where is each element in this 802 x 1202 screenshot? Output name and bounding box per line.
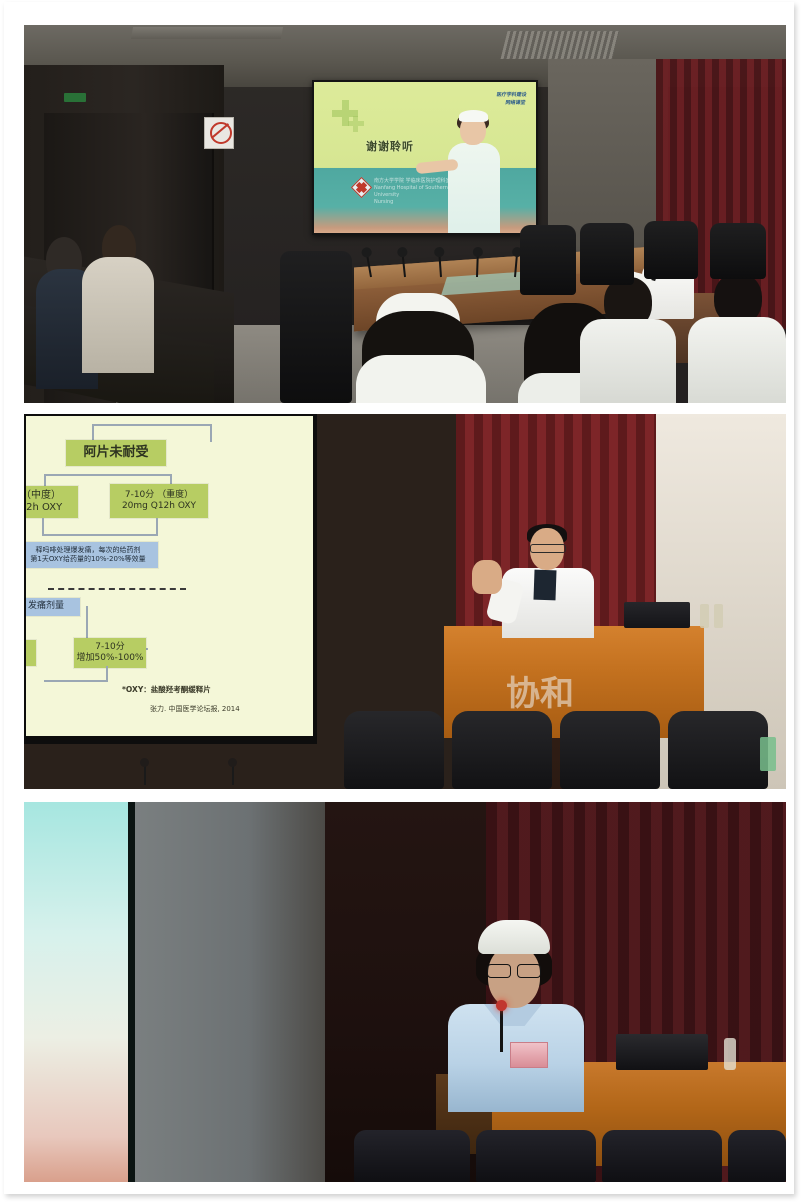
slide-brand-line1: 医疗学科建设 (474, 91, 527, 99)
flowchart-box-dose-label: 发痛剂量 (26, 598, 80, 616)
page-root: 谢谢聆听 医疗学科建设 网络课堂 南方大学学院 学临床医院护理科室 Nanfan… (0, 0, 802, 1202)
auditorium-chair (476, 1130, 596, 1182)
microphone-row (44, 755, 304, 785)
auditorium-chair (452, 711, 552, 789)
nurse-cap-icon (478, 920, 550, 954)
flowchart-box-text: （中度） (26, 490, 61, 503)
audience-member (82, 257, 154, 373)
office-chair (580, 223, 634, 285)
flowchart-box-text: 7-10分 (95, 642, 124, 653)
raised-hand (472, 560, 502, 594)
presenter-doctor (494, 524, 604, 634)
podium-logo: 协和 (506, 666, 586, 710)
no-smoking-sign-icon (204, 117, 234, 149)
slide-brand-mark: 医疗学科建设 网络课堂 (473, 91, 527, 107)
exit-sign-icon (64, 93, 86, 102)
flowchart-note-breakthrough-pain: 释吗啡处理爆发痛，每次的给药剂 第1天OXY给药量的10%-20%等效量 (26, 542, 158, 568)
photo-conference-room: 谢谢聆听 医疗学科建设 网络课堂 南方大学学院 学临床医院护理科室 Nanfan… (24, 25, 786, 403)
office-chair (710, 223, 766, 279)
ceiling-light-icon (131, 27, 283, 39)
audience-member (688, 317, 786, 403)
audience-chair-row (344, 705, 786, 789)
laptop (616, 1034, 708, 1070)
microphone-stand (500, 1006, 503, 1052)
audience-member (356, 355, 486, 403)
projection-screen: 阿片未耐受 （中度） 12h OXY 7-10分 （重度） 20mg Q12h … (24, 414, 317, 744)
glasses-icon (530, 544, 566, 553)
slide-brand-line2: 网络课堂 (473, 99, 526, 107)
ceiling-vent-icon (501, 31, 620, 59)
flowchart-box-text: 7-10分 （重度） (125, 490, 193, 501)
slide-nurse-figure (440, 113, 514, 233)
slide-surface: 谢谢聆听 医疗学科建设 网络课堂 南方大学学院 学临床医院护理科室 Nanfan… (314, 82, 536, 233)
auditorium-chair (560, 711, 660, 789)
auditorium-chair (668, 711, 768, 789)
office-chair (644, 221, 698, 279)
flowchart-note-text: 释吗啡处理爆发痛，每次的给药剂 (36, 546, 141, 555)
red-cross-logo-icon (351, 177, 372, 198)
water-bottle (760, 737, 776, 771)
photo-nurse-presenter (24, 802, 786, 1182)
screen-edge (128, 802, 135, 1182)
office-chair (280, 251, 352, 403)
slide-flowchart: 阿片未耐受 （中度） 12h OXY 7-10分 （重度） 20mg Q12h … (26, 416, 313, 736)
auditorium-chair (354, 1130, 470, 1182)
auditorium-chair (602, 1130, 722, 1182)
slide-surface: 阿片未耐受 （中度） 12h OXY 7-10分 （重度） 20mg Q12h … (26, 416, 313, 736)
audience-member (580, 319, 676, 403)
flowchart-box-opioid-naive: 阿片未耐受 (66, 440, 166, 466)
hall-wall (135, 802, 325, 1182)
office-chair (520, 225, 576, 295)
medical-cross-small-icon (348, 116, 364, 132)
projection-screen (24, 802, 134, 1182)
flowchart-box-left-stub (26, 640, 36, 666)
photo-gallery-card: 谢谢聆听 医疗学科建设 网络课堂 南方大学学院 学临床医院护理科室 Nanfan… (4, 2, 794, 1194)
flowchart-box-moderate: （中度） 12h OXY (26, 486, 78, 518)
flowchart-box-text: 增加50%-100% (77, 653, 144, 664)
flowchart-box-increase: 7-10分 增加50%-100% (74, 638, 146, 668)
water-bottle (724, 1038, 736, 1070)
auditorium-chair (728, 1130, 786, 1182)
water-bottle (700, 604, 709, 628)
flowchart-box-text: 20mg Q12h OXY (122, 501, 196, 512)
slide-thank-you-title: 谢谢聆听 (366, 138, 414, 154)
photo-doctor-at-podium: 阿片未耐受 （中度） 12h OXY 7-10分 （重度） 20mg Q12h … (24, 414, 786, 789)
flowchart-box-text: 发痛剂量 (28, 601, 64, 612)
glasses-icon (487, 964, 541, 976)
auditorium-chair (344, 711, 444, 789)
projection-screen: 谢谢聆听 医疗学科建设 网络课堂 南方大学学院 学临床医院护理科室 Nanfan… (312, 80, 538, 235)
flowchart-box-severe: 7-10分 （重度） 20mg Q12h OXY (110, 484, 208, 518)
slide-footnote: *OXY：盐酸羟考酮缓释片 (122, 684, 211, 695)
laptop (624, 602, 690, 628)
flowchart-note-text: 第1天OXY给药量的10%-20%等效量 (30, 555, 145, 564)
name-badge (510, 1042, 548, 1068)
flowchart-box-text: 12h OXY (26, 502, 62, 515)
presenter-nurse (432, 920, 602, 1110)
water-bottle (714, 604, 723, 628)
flowchart-box-text: 阿片未耐受 (83, 445, 148, 461)
slide-citation: 张力. 中国医学论坛报, 2014 (150, 704, 240, 714)
microphone-icon (496, 1000, 507, 1011)
